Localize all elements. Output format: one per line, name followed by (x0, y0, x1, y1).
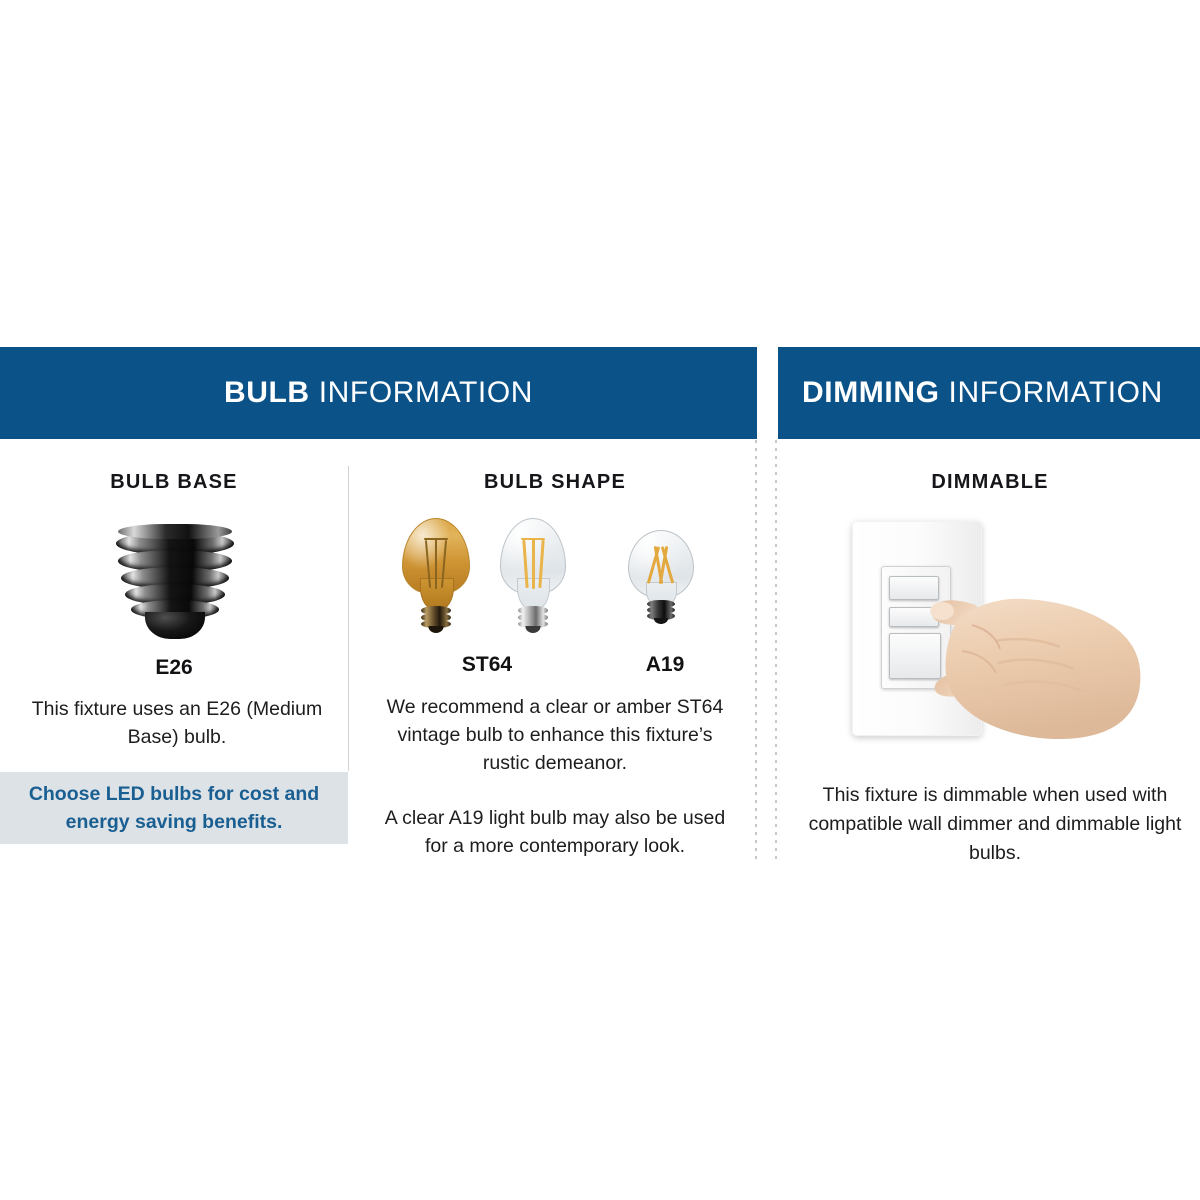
e26-label: E26 (24, 656, 324, 680)
base-collar (118, 524, 232, 539)
a19-label: A19 (585, 653, 745, 677)
hand-pressing-dimmer-icon (900, 545, 1200, 785)
bulb-screw-base (518, 606, 548, 630)
divider-bulb-base-shape (348, 466, 349, 771)
bulb-shape-paragraph-2: A clear A19 light bulb may also be used … (372, 804, 738, 860)
st64-label: ST64 (397, 653, 577, 677)
filament (532, 539, 535, 589)
fingertip-highlight (930, 602, 954, 620)
hand-back (946, 599, 1141, 739)
base-tip (145, 612, 205, 639)
base-tip (429, 626, 444, 633)
filament-bridge (424, 538, 448, 540)
e26-screw-base-icon (114, 524, 236, 642)
amber-st64-bulb-icon (402, 518, 470, 620)
dimming-information-header: DIMMING INFORMATION (778, 347, 1200, 439)
led-callout-box: Choose LED bulbs for cost and energy sav… (0, 772, 348, 844)
dimmable-body: This fixture is dimmable when used with … (800, 781, 1190, 868)
divider-dotted-right (775, 440, 777, 862)
bulb-shape-body: We recommend a clear or amber ST64 vinta… (372, 693, 738, 860)
divider-dotted-left (755, 440, 757, 862)
clear-st64-bulb-icon (500, 518, 566, 620)
bulb-shape-title: BULB SHAPE (360, 471, 750, 494)
filament (435, 539, 437, 589)
header-bold-word: DIMMING (802, 376, 940, 410)
bulb-screw-base (421, 606, 451, 630)
header-light-word: INFORMATION (319, 376, 533, 410)
led-callout-text: Choose LED bulbs for cost and energy sav… (24, 780, 324, 836)
infographic-canvas: BULB INFORMATION DIMMING INFORMATION BUL… (0, 0, 1200, 1200)
bulb-information-header: BULB INFORMATION (0, 347, 757, 439)
base-tip (526, 626, 541, 633)
bulb-shape-paragraph-1: We recommend a clear or amber ST64 vinta… (372, 693, 738, 777)
header-light-word: INFORMATION (949, 376, 1163, 410)
clear-a19-bulb-icon (628, 530, 694, 622)
bulb-base-title: BULB BASE (0, 471, 348, 494)
dimmable-title: DIMMABLE (790, 471, 1190, 494)
filament-bridge (521, 538, 545, 540)
base-tip (654, 618, 668, 624)
bulb-base-body: This fixture uses an E26 (Medium Base) b… (18, 695, 336, 751)
bulb-screw-base (647, 600, 675, 622)
header-bold-word: BULB (224, 376, 310, 410)
